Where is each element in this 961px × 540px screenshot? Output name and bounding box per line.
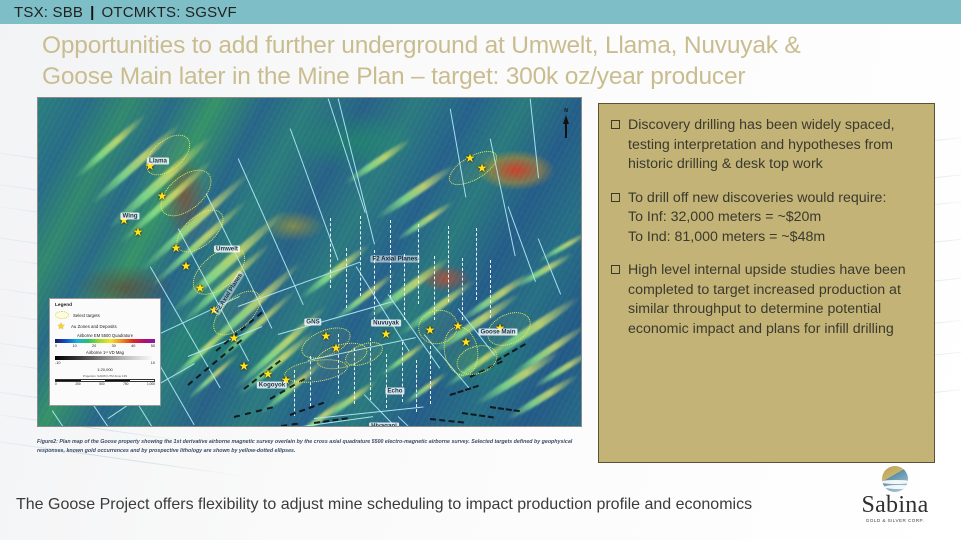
- star-swatch-icon: ★: [55, 322, 67, 330]
- ticker-bar: TSX: SBB | OTCMKTS: SGSVF: [0, 0, 961, 24]
- axis-tick: [37, 408, 38, 409]
- strapline: The Goose Project offers flexibility to …: [16, 494, 866, 516]
- legend-mag-tick: 10: [151, 361, 155, 365]
- legend-em-colorbar: [55, 339, 155, 343]
- logo-circle: [882, 466, 908, 492]
- callout-bullet-3: High level internal upside studies have …: [611, 261, 920, 339]
- legend-em-tick: 30: [112, 344, 116, 348]
- axis-tick: [156, 97, 157, 98]
- axis-tick: [156, 426, 157, 427]
- legend-row-au-zones: ★ Au Zones and Deposits: [55, 322, 155, 330]
- legend-row-select-targets: Select targets: [55, 311, 155, 319]
- north-arrow-icon: N: [560, 108, 572, 138]
- callout-bullet-2-inferred: To Inf: 32,000 meters = ~$20m: [628, 208, 886, 228]
- axis-tick: [581, 408, 582, 409]
- map-frame: LlamaWingUmweltF2 Axial PlanesGNSNuvuyak…: [37, 97, 582, 427]
- axis-tick: [581, 126, 582, 127]
- logo-tagline: GOLD & SILVER CORP.: [845, 518, 945, 523]
- checkbox-bullet-icon: [611, 193, 620, 202]
- map-label-echo: Echo: [385, 388, 404, 395]
- map-label-umwelt: Umwelt: [214, 246, 240, 253]
- axis-tick: [348, 426, 349, 427]
- checkbox-bullet-icon: [611, 120, 620, 129]
- map-label-hivagani: Hivagani: [369, 423, 399, 428]
- f2-axial-plane-dash: [404, 254, 405, 320]
- checkbox-bullet-icon: [611, 265, 620, 274]
- legend-scale-tick: 1,000: [147, 382, 155, 386]
- axis-tick: [252, 426, 253, 427]
- logo-wordmark: Sabina: [845, 493, 945, 517]
- callout-bullet-2: To drill off new discoveries would requi…: [611, 189, 920, 248]
- axis-tick: [581, 354, 582, 355]
- axis-tick: [540, 97, 541, 98]
- axis-tick: [37, 202, 38, 203]
- legend-em-tick: 40: [131, 344, 135, 348]
- legend-scale-tick: 500: [99, 382, 104, 386]
- map-label-wing: Wing: [120, 213, 139, 220]
- map-axis-bottom: 435000mE436000mE437000mE438000mE439000mE…: [38, 426, 582, 427]
- legend-em-tick: 50: [151, 344, 155, 348]
- axis-tick: [252, 97, 253, 98]
- legend-title: Legend: [55, 303, 155, 308]
- legend-scale-ticks: 02505007501,000: [55, 382, 155, 386]
- map-label-gns: GNS: [304, 319, 321, 326]
- f2-axial-plane-dash: [430, 346, 431, 404]
- north-arrow-head: [563, 115, 569, 124]
- ticker-exchange-otc: OTCMKTS: SGSVF: [102, 4, 237, 21]
- legend-scale-text: 1:20,000: [55, 367, 155, 372]
- axis-tick: [540, 426, 541, 427]
- map-axis-left: 7220000mN7222000mN7224000mN7226000mN7228…: [37, 98, 38, 427]
- f2-axial-plane-dash: [416, 360, 417, 412]
- page-title: Opportunities to add further underground…: [42, 30, 922, 92]
- page-title-line-1: Opportunities to add further underground…: [42, 32, 801, 59]
- f2-axial-plane-dash: [418, 224, 419, 304]
- f2-axial-plane-dash: [448, 226, 449, 302]
- axis-tick: [581, 278, 582, 279]
- legend-mag-caption: Airborne 1ˢᵗ VD Mag: [55, 350, 155, 355]
- axis-tick: [581, 202, 582, 203]
- legend-scale-tick: 250: [75, 382, 80, 386]
- f2-axial-plane-dash: [490, 260, 491, 318]
- axis-tick: [348, 97, 349, 98]
- axis-tick: [60, 97, 61, 98]
- callout-bullet-2-lead: To drill off new discoveries would requi…: [628, 190, 886, 206]
- legend-em-tick: 0: [55, 344, 57, 348]
- axis-tick: [37, 126, 38, 127]
- ticker-exchange-tsx: TSX: SBB: [14, 4, 83, 21]
- legend-projection: Projection: NAD83 UTM Zone 13N: [55, 374, 155, 378]
- map-axis-right: 7220000mN7222000mN7224000mN7226000mN7228…: [581, 98, 582, 427]
- legend-mag-tick: -10: [55, 361, 61, 365]
- legend-em-tick: 20: [92, 344, 96, 348]
- f2-axial-plane-dash: [346, 248, 347, 308]
- map-label-nuvuyak: Nuvuyak: [371, 320, 401, 327]
- axis-tick: [444, 426, 445, 427]
- f2-axial-plane-dash: [386, 354, 387, 408]
- legend-scale-tick: 750: [123, 382, 128, 386]
- axis-tick: [37, 278, 38, 279]
- slide-root: TSX: SBB | OTCMKTS: SGSVF Opportunities …: [0, 0, 961, 540]
- map-label-goose-main: Goose Main: [478, 329, 517, 336]
- map-label-llama: Llama: [147, 158, 169, 165]
- page-title-line-2: Goose Main later in the Mine Plan – targ…: [42, 61, 922, 92]
- north-arrow-stem: [565, 124, 567, 138]
- figure-caption: Figure2: Plan map of the Goose property …: [37, 438, 582, 455]
- map-axis-top: 435000mE436000mE437000mE438000mE439000mE…: [38, 97, 582, 98]
- axis-tick: [444, 97, 445, 98]
- f2-axial-plane-dash: [462, 258, 463, 320]
- legend-em-tick: 10: [72, 344, 76, 348]
- legend-label-select-targets: Select targets: [73, 313, 100, 318]
- north-arrow-label: N: [564, 108, 568, 114]
- legend-mag-colorbar: [55, 356, 155, 360]
- callout-bullet-1-text: Discovery drilling has been widely space…: [628, 116, 920, 175]
- legend-scale-tick: 0: [55, 382, 57, 386]
- callout-bullet-1: Discovery drilling has been widely space…: [611, 116, 920, 175]
- legend-mag-ticks: -1010: [55, 361, 155, 365]
- figure-plan-map: LlamaWingUmweltF2 Axial PlanesGNSNuvuyak…: [37, 97, 582, 482]
- f2-axial-plane-dash: [330, 218, 331, 288]
- map-legend: Legend Select targets ★ Au Zones and Dep…: [49, 298, 161, 406]
- callout-box: Discovery drilling has been widely space…: [598, 103, 935, 463]
- callout-bullet-2-text: To drill off new discoveries would requi…: [628, 189, 886, 248]
- company-logo: Sabina GOLD & SILVER CORP.: [845, 466, 945, 524]
- legend-em-caption: Airborne EM 5500 Quadrature: [55, 333, 155, 338]
- ticker-separator: |: [90, 4, 94, 21]
- callout-bullet-3-text: High level internal upside studies have …: [628, 261, 920, 339]
- axis-tick: [60, 426, 61, 427]
- legend-em-ticks: 01020304050: [55, 344, 155, 348]
- map-label-f2-axial-planes: F2 Axial Planes: [370, 256, 419, 263]
- f2-axial-plane-dash: [360, 216, 361, 296]
- f2-axial-plane-dash: [476, 228, 477, 300]
- callout-bullet-2-indicated: To Ind: 81,000 meters = ~$48m: [628, 228, 886, 248]
- legend-label-au-zones: Au Zones and Deposits: [71, 324, 117, 329]
- ellipse-swatch-icon: [55, 311, 69, 319]
- axis-tick: [37, 354, 38, 355]
- logo-mark-icon: [872, 466, 918, 492]
- map-label-kogoyok: Kogoyok: [257, 382, 287, 389]
